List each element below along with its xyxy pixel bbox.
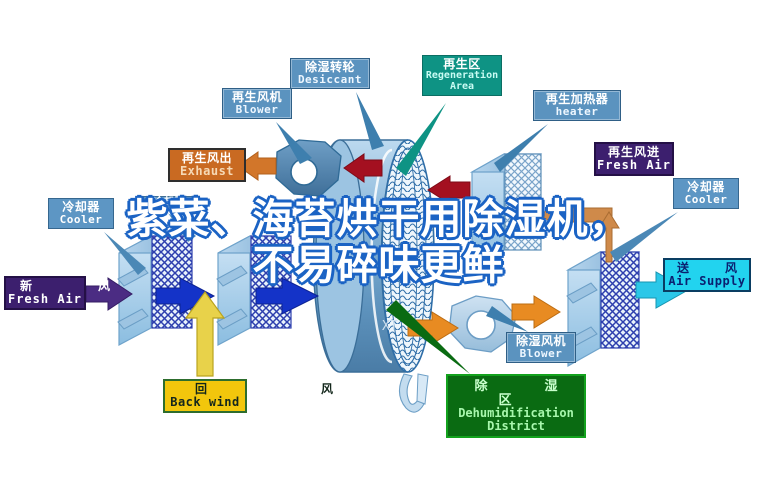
label-regeneration-fresh-air-cn: 再生风进 bbox=[596, 146, 672, 159]
label-regeneration-heater[interactable]: 再生加热器 heater bbox=[533, 90, 621, 121]
diagram-canvas: XT 除湿转轮 Desiccant 再生风机 Blower 再生风出 Exhau… bbox=[0, 0, 757, 488]
label-back-wind[interactable]: 回 风 Back wind bbox=[163, 379, 247, 413]
label-cooler-left-cn: 冷却器 bbox=[49, 201, 113, 214]
blower-out-arrow bbox=[512, 296, 560, 328]
label-regeneration-blower[interactable]: 再生风机 Blower bbox=[222, 88, 292, 119]
label-cooler-mid-cn: 冷却器 bbox=[144, 198, 194, 209]
label-regeneration-area[interactable]: 再生区 Regeneration Area bbox=[422, 55, 502, 96]
schematic-artwork: XT bbox=[0, 0, 757, 488]
label-regeneration-blower-en: Blower bbox=[223, 104, 291, 116]
watermark-text: XT bbox=[382, 319, 398, 334]
label-desiccant-rotor[interactable]: 除湿转轮 Desiccant bbox=[290, 58, 370, 89]
label-regeneration-heater-cn: 再生加热器 bbox=[534, 93, 620, 106]
label-regeneration-fresh-air[interactable]: 再生风进 Fresh Air bbox=[594, 142, 674, 176]
regen-into-rotor-arrow bbox=[428, 176, 470, 204]
label-regeneration-area-en: Regeneration Area bbox=[423, 71, 501, 93]
label-fresh-air-inlet-cn: 新 风 bbox=[6, 280, 84, 293]
label-dehumidification-blower[interactable]: 除湿风机 Blower bbox=[506, 332, 576, 363]
label-cooler-right-en: Cooler bbox=[674, 194, 738, 206]
label-dehumidification-district-en: Dehumidification District bbox=[448, 407, 584, 433]
label-air-supply[interactable]: 送 风 Air Supply bbox=[663, 258, 751, 292]
label-cooler-right[interactable]: 冷却器 Cooler bbox=[673, 178, 739, 209]
label-back-wind-cn: 回 风 bbox=[165, 383, 245, 396]
label-fresh-air-inlet-en: Fresh Air bbox=[6, 293, 84, 306]
label-fresh-air-inlet[interactable]: 新 风 Fresh Air bbox=[4, 276, 86, 310]
label-cooler-left-en: Cooler bbox=[49, 214, 113, 226]
label-back-wind-en: Back wind bbox=[165, 396, 245, 409]
label-regeneration-fresh-air-en: Fresh Air bbox=[596, 159, 672, 172]
label-air-supply-cn: 送 风 bbox=[665, 262, 749, 275]
label-dehumidification-blower-en: Blower bbox=[507, 348, 575, 360]
cooler-coil-right bbox=[567, 252, 639, 366]
label-regeneration-exhaust-cn: 再生风出 bbox=[170, 152, 244, 165]
label-air-supply-en: Air Supply bbox=[665, 275, 749, 288]
label-dehumidification-district[interactable]: 除 湿 区 Dehumidification District bbox=[446, 374, 586, 438]
label-regeneration-exhaust-en: Exhaust bbox=[170, 165, 244, 178]
label-desiccant-rotor-en: Desiccant bbox=[291, 74, 369, 86]
label-desiccant-rotor-cn: 除湿转轮 bbox=[291, 61, 369, 74]
label-dehumidification-district-cn: 除 湿 区 bbox=[448, 379, 584, 407]
label-dehumidification-blower-cn: 除湿风机 bbox=[507, 335, 575, 348]
label-regeneration-exhaust[interactable]: 再生风出 Exhaust bbox=[168, 148, 246, 182]
label-cooler-left[interactable]: 冷却器 Cooler bbox=[48, 198, 114, 229]
label-cooler-right-cn: 冷却器 bbox=[674, 181, 738, 194]
heater-coil bbox=[472, 154, 541, 268]
label-regeneration-heater-en: heater bbox=[534, 106, 620, 118]
label-regeneration-area-cn: 再生区 bbox=[423, 58, 501, 71]
label-cooler-mid[interactable]: 冷却器 bbox=[143, 196, 195, 211]
label-regeneration-blower-cn: 再生风机 bbox=[223, 91, 291, 104]
drip-tray bbox=[399, 374, 428, 412]
